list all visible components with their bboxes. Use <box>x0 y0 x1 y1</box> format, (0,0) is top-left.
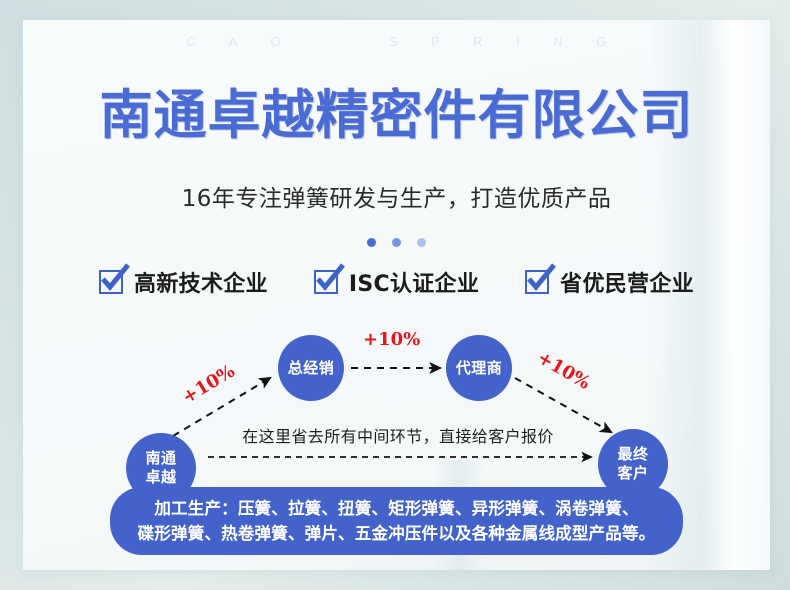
markup-label-2: +10% <box>363 329 420 350</box>
badge-item: 高新技术企业 <box>99 266 268 298</box>
node-agent: 代理商 <box>446 335 512 401</box>
node-final-client-line1: 最终 <box>617 445 648 464</box>
node-distributor-label: 总经销 <box>288 359 335 378</box>
node-source-line1: 南通 <box>145 449 176 468</box>
badge-label: 省优民营企业 <box>560 266 694 298</box>
badge-label: ISC认证企业 <box>349 266 479 298</box>
checkbox-checked-icon <box>314 270 338 294</box>
card-content: C A O S P R I N G 南通卓越精密件有限公司 16年专注弹簧研发与… <box>23 20 770 570</box>
badge-item: 省优民营企业 <box>525 266 694 298</box>
content-card: C A O S P R I N G 南通卓越精密件有限公司 16年专注弹簧研发与… <box>23 20 770 570</box>
page-subtitle: 16年专注弹簧研发与生产，打造优质产品 <box>23 184 770 214</box>
node-source-line2: 卓越 <box>145 468 176 487</box>
dot-3-icon <box>417 238 426 247</box>
credential-badges: 高新技术企业 ISC认证企业 省优民 <box>23 266 770 298</box>
eyebrow-text: C A O S P R I N G <box>23 34 770 49</box>
page-title: 南通卓越精密件有限公司 <box>23 86 770 146</box>
checkbox-checked-icon <box>525 270 549 294</box>
dot-1-icon <box>367 238 376 247</box>
products-banner: 加工生产：压簧、拉簧、扭簧、矩形弹簧、异形弹簧、涡卷弹簧、 碟形弹簧、热卷弹簧、… <box>110 487 683 555</box>
badge-item: ISC认证企业 <box>314 266 479 298</box>
dot-2-icon <box>392 238 401 247</box>
direct-quote-note: 在这里省去所有中间环节，直接给客户报价 <box>208 423 588 447</box>
poster-root: C A O S P R I N G 南通卓越精密件有限公司 16年专注弹簧研发与… <box>0 0 790 590</box>
supply-chain-diagram: 南通 卓越 总经销 代理商 最终 客户 +10% +10% +10% 在这里省去… <box>23 316 770 506</box>
products-banner-line2: 碟形弹簧、热卷弹簧、弹片、五金冲压件以及各种金属线成型产品等。 <box>136 521 657 546</box>
node-final-client-line2: 客户 <box>617 464 648 483</box>
products-banner-line1: 加工生产：压簧、拉簧、扭簧、矩形弹簧、异形弹簧、涡卷弹簧、 <box>136 496 657 521</box>
checkbox-checked-icon <box>99 270 123 294</box>
node-agent-label: 代理商 <box>456 359 503 378</box>
decorative-dots <box>23 238 770 247</box>
node-distributor: 总经销 <box>278 335 344 401</box>
badge-label: 高新技术企业 <box>134 266 268 298</box>
